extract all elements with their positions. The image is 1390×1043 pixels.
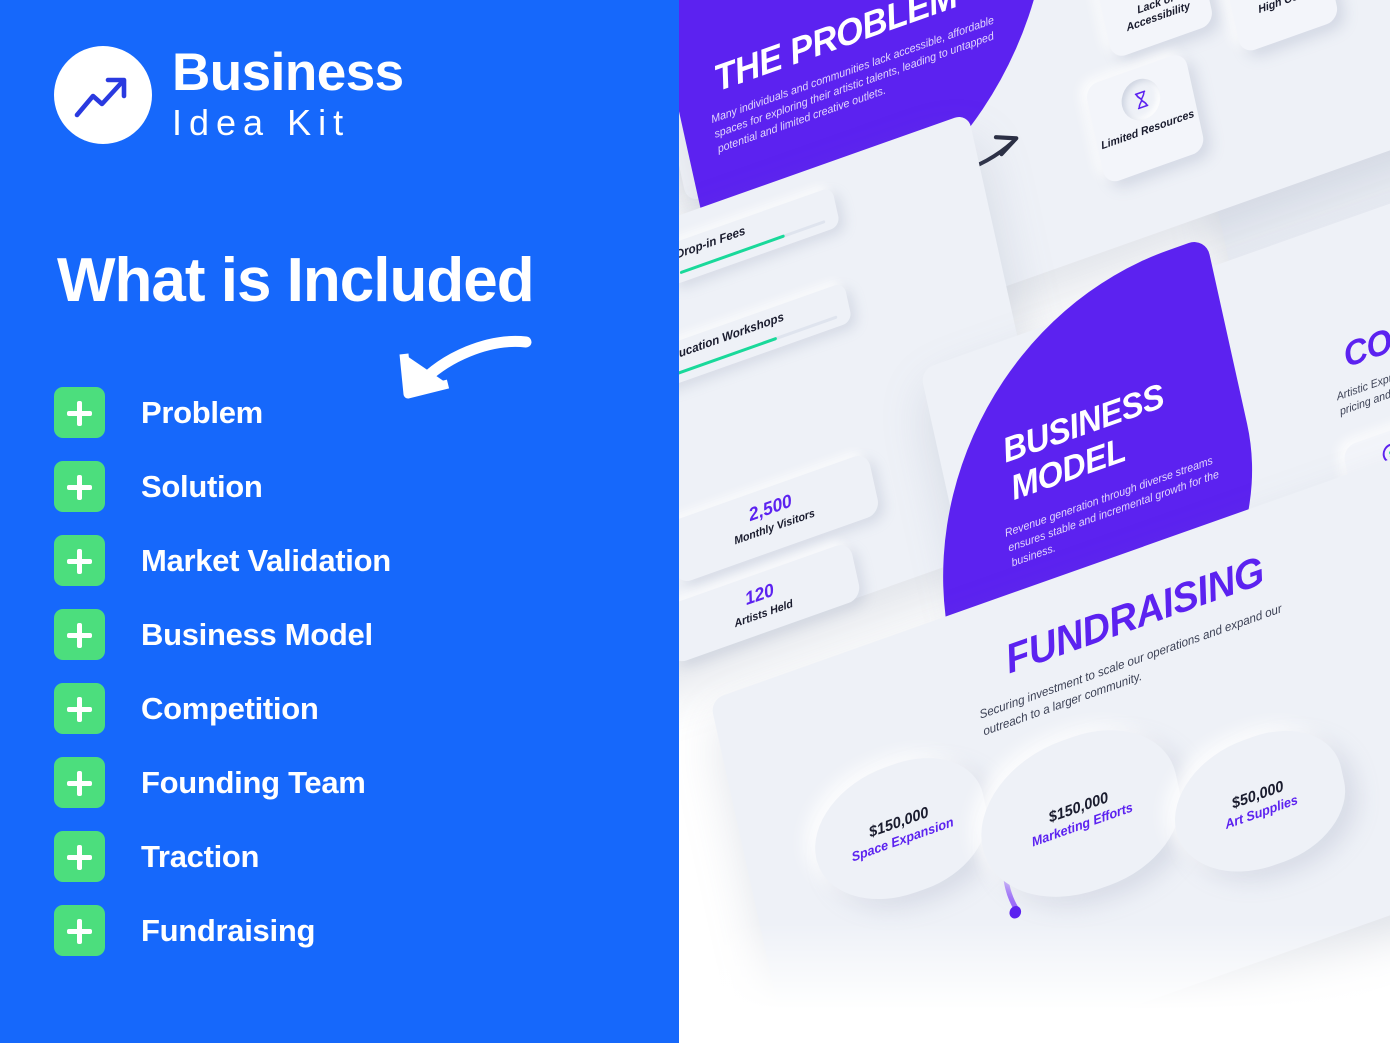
brand-subtitle: Idea Kit [172, 102, 404, 143]
plus-icon [54, 461, 105, 512]
slide-showcase: Accessible Spaces THE PROBLEM Many indiv… [640, 0, 1390, 1043]
problem-card-high-cost-label: High Cost [1233, 0, 1334, 26]
page-title: What is Included [57, 248, 534, 313]
list-item[interactable]: Solution [54, 460, 614, 513]
problem-card-accessibility-label: Lack of Accessibility [1103, 0, 1211, 43]
feature-label: Fundraising [141, 913, 315, 949]
traction-bar-education-workshops: Education Workshops [650, 282, 852, 390]
competition-title: COMPETITION [1340, 261, 1390, 376]
list-item[interactable]: Market Validation [54, 534, 614, 587]
hourglass-icon [1118, 73, 1164, 126]
problem-card-limited-resources[interactable]: Limited Resources [1084, 51, 1206, 185]
included-features-list: Problem Solution Market Validation Busin… [54, 386, 614, 978]
plus-icon [54, 387, 105, 438]
traction-bar-drop-in-fees: Drop-in Fees [662, 187, 840, 286]
plus-icon [54, 609, 105, 660]
list-item[interactable]: Traction [54, 830, 614, 883]
list-item[interactable]: Fundraising [54, 904, 614, 957]
feature-label: Market Validation [141, 543, 391, 579]
brand-title: Business [172, 46, 404, 99]
bottom-fade [640, 923, 1390, 1043]
feature-label: Competition [141, 691, 319, 727]
feature-label: Business Model [141, 617, 373, 653]
plus-icon [54, 831, 105, 882]
plus-icon [54, 757, 105, 808]
list-item[interactable]: Problem [54, 386, 614, 439]
traction-bar-label: Drop-in Fees [674, 223, 746, 261]
problem-card-accessibility[interactable]: Lack of Accessibility [1091, 0, 1215, 60]
left-info-panel: Business Idea Kit What is Included Probl… [0, 0, 679, 1043]
growth-chart-circle-icon [54, 46, 152, 144]
plus-icon [54, 535, 105, 586]
feature-label: Founding Team [141, 765, 366, 801]
list-item[interactable]: Founding Team [54, 756, 614, 809]
feature-label: Solution [141, 469, 263, 505]
plus-icon [54, 683, 105, 734]
list-item[interactable]: Business Model [54, 608, 614, 661]
feature-label: Problem [141, 395, 263, 431]
list-item[interactable]: Competition [54, 682, 614, 735]
brand-logo: Business Idea Kit [54, 46, 404, 144]
plus-icon [54, 905, 105, 956]
feature-label: Traction [141, 839, 259, 875]
problem-card-high-cost[interactable]: High Cost [1220, 0, 1339, 54]
